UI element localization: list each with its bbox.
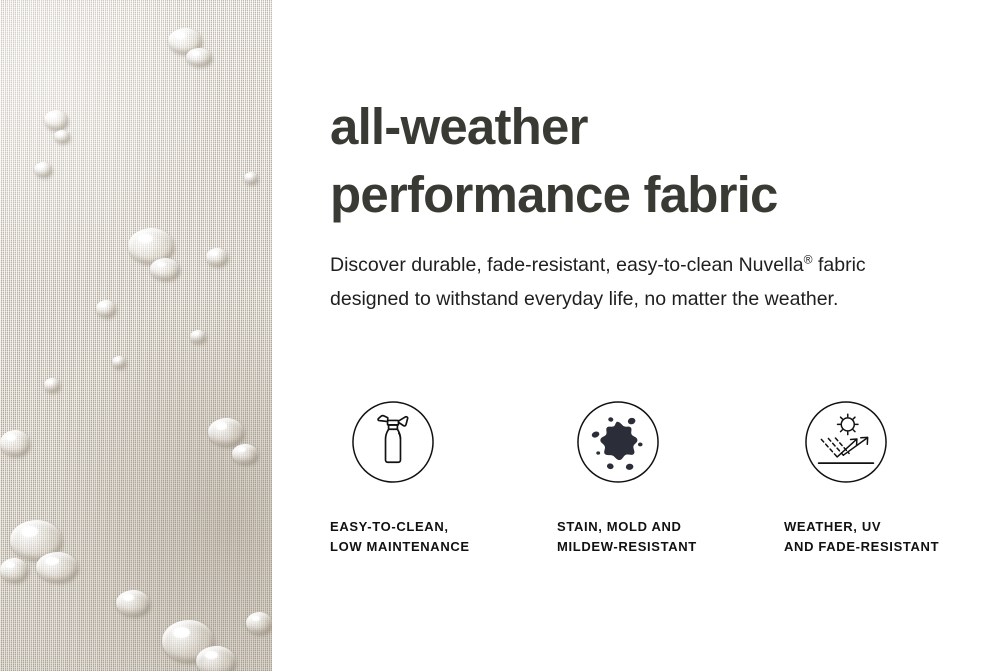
- sun-uv-reflect-icon: [802, 398, 890, 486]
- fabric-photo: [0, 0, 272, 671]
- intro-paragraph: Discover durable, fade-resistant, easy-t…: [330, 248, 950, 316]
- feature-stain-resistant: STAIN, MOLD AND MILDEW-RESISTANT: [557, 398, 784, 557]
- water-droplet: [246, 612, 272, 634]
- stain-splatter-icon: [574, 398, 662, 486]
- feature-caption: WEATHER, UV AND FADE-RESISTANT: [784, 517, 939, 557]
- feature-list: EASY-TO-CLEAN, LOW MAINTENANCE: [330, 398, 990, 557]
- feature-easy-to-clean: EASY-TO-CLEAN, LOW MAINTENANCE: [330, 398, 557, 557]
- water-droplet: [96, 300, 116, 317]
- water-droplet: [0, 558, 28, 582]
- water-droplet: [44, 110, 68, 130]
- water-droplet: [190, 330, 206, 343]
- water-droplet: [116, 590, 150, 616]
- water-droplet: [44, 378, 60, 392]
- water-droplet: [186, 48, 212, 66]
- banner-content: all-weather performance fabric Discover …: [330, 0, 990, 671]
- water-droplet: [36, 552, 78, 582]
- water-droplet: [208, 418, 244, 446]
- water-droplet: [244, 172, 258, 184]
- feature-caption: STAIN, MOLD AND MILDEW-RESISTANT: [557, 517, 697, 557]
- spray-bottle-icon: [349, 398, 437, 486]
- water-droplet: [206, 248, 228, 266]
- feature-caption: EASY-TO-CLEAN, LOW MAINTENANCE: [330, 517, 470, 557]
- water-droplet: [232, 444, 258, 464]
- water-droplet: [150, 258, 180, 280]
- intro-text-part1: Discover durable, fade-resistant, easy-t…: [330, 254, 804, 276]
- all-weather-fabric-banner: all-weather performance fabric Discover …: [0, 0, 1005, 671]
- water-droplet: [196, 646, 236, 671]
- feature-weather-uv-resistant: WEATHER, UV AND FADE-RESISTANT: [784, 398, 990, 557]
- water-droplet: [112, 356, 126, 368]
- registered-trademark-symbol: ®: [804, 253, 813, 267]
- page-title: all-weather performance fabric: [330, 93, 970, 229]
- water-droplet: [34, 162, 52, 177]
- water-droplet: [54, 130, 70, 143]
- water-droplet: [0, 430, 30, 456]
